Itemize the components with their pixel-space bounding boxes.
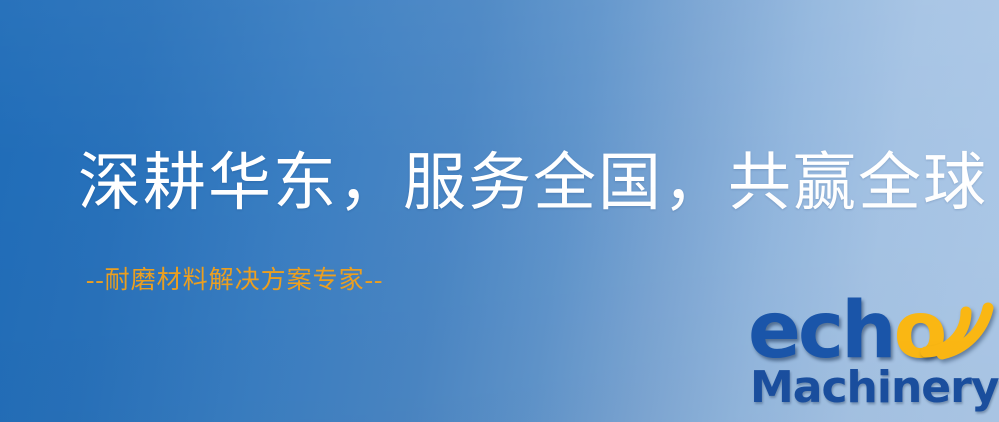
banner-subtitle: --耐磨材料解决方案专家--: [86, 268, 383, 293]
promo-banner: 深耕华东，服务全国，共赢全球 --耐磨材料解决方案专家-- ech o Mach…: [0, 0, 999, 422]
signal-waves-icon: [920, 290, 996, 360]
logo-wordmark-text: Machinery: [750, 362, 999, 413]
logo-text-ech: ech: [748, 296, 894, 366]
logo-brand-name: ech o: [748, 296, 945, 370]
echo-machinery-logo: ech o Machinery®: [748, 296, 999, 422]
banner-headline: 深耕华东，服务全国，共赢全球: [78, 152, 988, 215]
logo-wordmark: Machinery®: [750, 362, 999, 416]
